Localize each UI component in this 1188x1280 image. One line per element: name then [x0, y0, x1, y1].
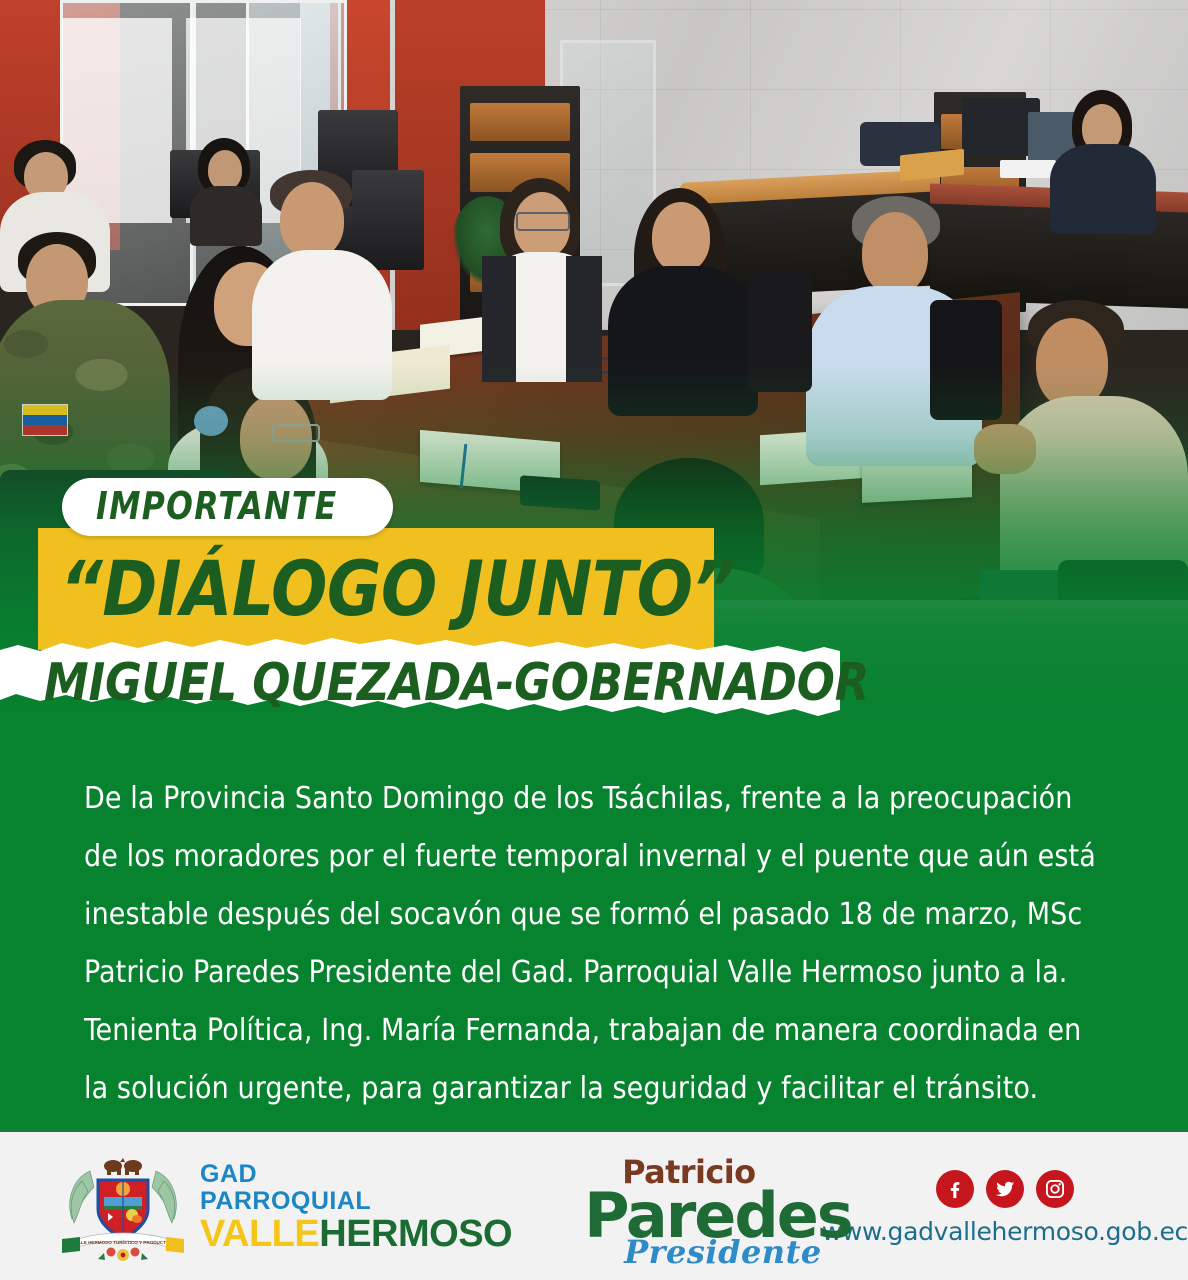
yellow-title-band: “DIÁLOGO JUNTO” — [38, 528, 714, 650]
eyeglasses-girl — [272, 424, 320, 442]
footer: VALLE HERMOSO TURÍSTICO Y PRODUCTIVO GAD… — [0, 1129, 1188, 1280]
gad-line-2: PARROQUIAL — [200, 1189, 512, 1214]
torn-paper-strip: MIGUEL QUEZADA-GOBERNADOR — [0, 636, 840, 728]
gad-line-1: GAD — [200, 1162, 512, 1187]
body-line-2: de los moradores por el fuerte temporal … — [84, 828, 1104, 886]
body-line-5: Tenienta Política, Ing. María Fernanda, … — [84, 1002, 1104, 1060]
valle-hermoso-coat-of-arms-icon: VALLE HERMOSO TURÍSTICO Y PRODUCTIVO — [60, 1153, 186, 1263]
emblem-ribbon-text: VALLE HERMOSO TURÍSTICO Y PRODUCTIVO — [72, 1238, 174, 1245]
badge-importante-label: IMPORTANTE — [96, 487, 338, 525]
body-line-6: la solución urgente, para garantizar la … — [84, 1060, 1104, 1118]
badge-importante: IMPORTANTE — [62, 478, 393, 536]
poster-root: IMPORTANTE “DIÁLOGO JUNTO” MIGUEL QUEZAD… — [0, 0, 1188, 1280]
clasped-hands — [974, 424, 1036, 474]
chair-2 — [930, 300, 1002, 420]
social-and-website: www.gadvallehermoso.gob.ec — [822, 1170, 1188, 1246]
facebook-glyph — [944, 1178, 966, 1200]
vest-left — [482, 256, 516, 382]
chair-1 — [748, 272, 812, 392]
patricio-paredes-logo: Patricio Paredes Presidente — [584, 1149, 730, 1267]
papers-back — [1000, 160, 1056, 178]
body-copy: De la Provincia Santo Domingo de los Tsá… — [0, 770, 1188, 1118]
body-line-3: inestable después del socavón que se for… — [84, 886, 1104, 944]
twitter-icon[interactable] — [986, 1170, 1024, 1208]
gad-logo-text: GAD PARROQUIAL VALLEHERMOSO — [200, 1162, 512, 1253]
gad-valle: VALLE — [200, 1213, 319, 1255]
facebook-icon[interactable] — [936, 1170, 974, 1208]
headline-title: “DIÁLOGO JUNTO” — [60, 539, 735, 639]
eyeglasses-vest-woman — [516, 212, 570, 231]
wall-poster-1 — [62, 18, 172, 223]
hair-bow — [194, 406, 228, 436]
paredes-role: Presidente — [624, 1233, 822, 1271]
ecuador-flag-patch — [22, 404, 68, 436]
vest-right — [566, 256, 602, 382]
gad-line-3: VALLEHERMOSO — [200, 1215, 512, 1253]
body-line-4: Patricio Paredes Presidente del Gad. Par… — [84, 944, 1104, 1002]
gad-parroquial-logo: VALLE HERMOSO TURÍSTICO Y PRODUCTIVO GAD… — [60, 1153, 512, 1263]
website-url[interactable]: www.gadvallehermoso.gob.ec — [822, 1217, 1188, 1246]
pc-tower-2 — [352, 170, 424, 270]
instagram-icon[interactable] — [1036, 1170, 1074, 1208]
social-row — [936, 1170, 1074, 1208]
headline-subtitle: MIGUEL QUEZADA-GOBERNADOR — [44, 654, 869, 712]
twitter-glyph — [994, 1178, 1016, 1200]
gad-hermoso: HERMOSO — [319, 1213, 512, 1255]
instagram-glyph — [1044, 1178, 1066, 1200]
headline-block: IMPORTANTE “DIÁLOGO JUNTO” MIGUEL QUEZAD… — [0, 478, 1188, 738]
body-line-1: De la Provincia Santo Domingo de los Tsá… — [84, 770, 1104, 828]
